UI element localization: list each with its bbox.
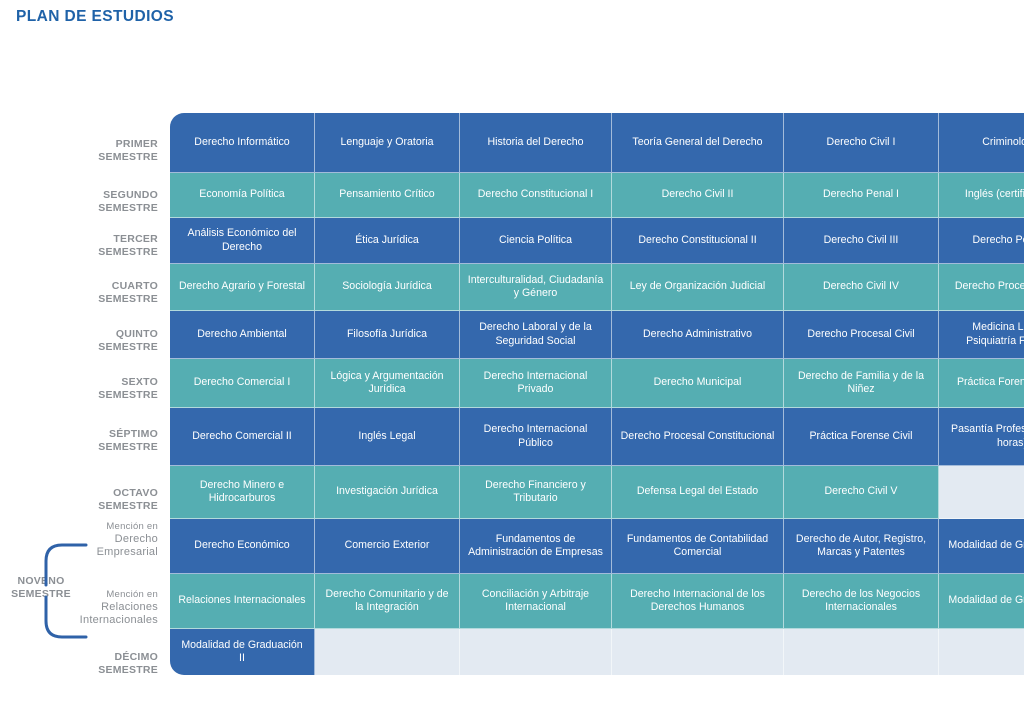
curriculum-table: Derecho InformáticoLenguaje y OratoriaHi… [170,113,1024,675]
course-cell[interactable]: Análisis Económico del Derecho [170,218,315,264]
course-cell[interactable]: Derecho Civil V [784,466,939,519]
course-cell[interactable]: Modalidad de Graduación I [939,519,1024,574]
table-row: Derecho Comercial ILógica y Argumentació… [170,359,1024,408]
course-cell[interactable]: Derecho Procesal Civil [784,311,939,359]
table-row: Análisis Económico del DerechoÉtica Jurí… [170,218,1024,264]
course-cell[interactable]: Economía Política [170,173,315,218]
course-cell[interactable]: Derecho Informático [170,113,315,173]
course-cell[interactable]: Derecho Comunitario y de la Integración [315,574,460,629]
course-cell[interactable]: Derecho de los Negocios Internacionales [784,574,939,629]
course-cell[interactable]: Derecho Internacional Privado [460,359,612,408]
table-row: Relaciones InternacionalesDerecho Comuni… [170,574,1024,629]
course-cell[interactable]: Modalidad de Graduación II [170,629,315,675]
semester-label-octavo: OCTAVOSEMESTRE [8,487,158,513]
course-cell[interactable]: Fundamentos de Administración de Empresa… [460,519,612,574]
course-cell[interactable]: Pensamiento Crítico [315,173,460,218]
course-cell[interactable]: Derecho Comercial I [170,359,315,408]
course-cell[interactable]: Relaciones Internacionales [170,574,315,629]
table-row: Modalidad de Graduación II [170,629,1024,675]
course-cell[interactable]: Derecho Laboral y de la Seguridad Social [460,311,612,359]
course-cell[interactable]: Sociología Jurídica [315,264,460,311]
course-cell[interactable]: Investigación Jurídica [315,466,460,519]
table-row: Derecho AmbientalFilosofía JurídicaDerec… [170,311,1024,359]
semester-label-tercer: TERCERSEMESTRE [8,233,158,259]
course-cell[interactable]: Ley de Organización Judicial [612,264,784,311]
course-cell[interactable]: Derecho Internacional de los Derechos Hu… [612,574,784,629]
course-cell[interactable]: Derecho Penal II [939,218,1024,264]
course-cell[interactable]: Ética Jurídica [315,218,460,264]
course-cell[interactable]: Práctica Forense Penal [939,359,1024,408]
table-row: Derecho EconómicoComercio ExteriorFundam… [170,519,1024,574]
table-row: Derecho Comercial IIInglés LegalDerecho … [170,408,1024,466]
course-cell[interactable]: Lógica y Argumentación Jurídica [315,359,460,408]
course-cell[interactable]: Derecho Procesal Penal [939,264,1024,311]
course-cell[interactable]: Pasantía Profesional (300 horas) [939,408,1024,466]
course-cell[interactable]: Derecho Agrario y Forestal [170,264,315,311]
course-cell[interactable]: Criminología [939,113,1024,173]
semester-label-septimo: SÉPTIMOSEMESTRE [8,428,158,454]
empty-cell [939,629,1024,675]
mencion-name-empresarial: DerechoEmpresarial [8,533,158,560]
course-cell[interactable]: Medicina Legal y Psiquiatría Forense [939,311,1024,359]
mencion-lead-empresarial: Mención en [8,521,158,533]
course-cell[interactable]: Derecho Financiero y Tributario [460,466,612,519]
semester-label-sexto: SEXTOSEMESTRE [8,376,158,402]
table-row: Economía PolíticaPensamiento CríticoDere… [170,173,1024,218]
course-cell[interactable]: Derecho Civil I [784,113,939,173]
mencion-empresarial-label: Mención en DerechoEmpresarial [8,521,158,559]
empty-cell [784,629,939,675]
course-cell[interactable]: Derecho Ambiental [170,311,315,359]
semester-label-cuarto: CUARTOSEMESTRE [8,280,158,306]
table-row: Derecho Minero e HidrocarburosInvestigac… [170,466,1024,519]
course-cell[interactable]: Modalidad de Graduación I [939,574,1024,629]
course-cell[interactable]: Derecho Municipal [612,359,784,408]
course-cell[interactable]: Fundamentos de Contabilidad Comercial [612,519,784,574]
empty-cell [460,629,612,675]
empty-cell [939,466,1024,519]
empty-cell [612,629,784,675]
semester-label-quinto: QUINTOSEMESTRE [8,328,158,354]
course-cell[interactable]: Derecho Penal I [784,173,939,218]
table-row: Derecho InformáticoLenguaje y OratoriaHi… [170,113,1024,173]
course-cell[interactable]: Conciliación y Arbitraje Internacional [460,574,612,629]
course-cell[interactable]: Teoría General del Derecho [612,113,784,173]
page-title: PLAN DE ESTUDIOS [16,8,174,26]
course-cell[interactable]: Derecho Constitucional II [612,218,784,264]
course-cell[interactable]: Derecho Civil IV [784,264,939,311]
course-cell[interactable]: Derecho Internacional Público [460,408,612,466]
course-cell[interactable]: Inglés (certificación) [939,173,1024,218]
course-cell[interactable]: Filosofía Jurídica [315,311,460,359]
curriculum-plan: PRIMERSEMESTRE SEGUNDOSEMESTRE TERCERSEM… [0,113,1024,693]
mencion-name-relaciones: RelacionesInternacionales [8,601,158,628]
course-cell[interactable]: Derecho Administrativo [612,311,784,359]
curriculum-table-body: Derecho InformáticoLenguaje y OratoriaHi… [170,113,1024,675]
course-cell[interactable]: Derecho de Familia y de la Niñez [784,359,939,408]
course-cell[interactable]: Lenguaje y Oratoria [315,113,460,173]
course-cell[interactable]: Ciencia Política [460,218,612,264]
empty-cell [315,629,460,675]
course-cell[interactable]: Defensa Legal del Estado [612,466,784,519]
mencion-lead-relaciones: Mención en [8,589,158,601]
course-cell[interactable]: Derecho Civil III [784,218,939,264]
course-cell[interactable]: Derecho de Autor, Registro, Marcas y Pat… [784,519,939,574]
course-cell[interactable]: Derecho Económico [170,519,315,574]
course-cell[interactable]: Derecho Procesal Constitucional [612,408,784,466]
course-cell[interactable]: Interculturalidad, Ciudadanía y Género [460,264,612,311]
semester-label-rail: PRIMERSEMESTRE SEGUNDOSEMESTRE TERCERSEM… [0,113,170,693]
noveno-semestre-group: NOVENOSEMESTRE Mención en DerechoEmpresa… [0,531,170,653]
semester-label-segundo: SEGUNDOSEMESTRE [8,189,158,215]
course-cell[interactable]: Historia del Derecho [460,113,612,173]
course-cell[interactable]: Derecho Comercial II [170,408,315,466]
course-cell[interactable]: Práctica Forense Civil [784,408,939,466]
course-cell[interactable]: Derecho Civil II [612,173,784,218]
semester-label-primer: PRIMERSEMESTRE [8,138,158,164]
course-cell[interactable]: Inglés Legal [315,408,460,466]
semester-label-decimo: DÉCIMOSEMESTRE [8,651,158,677]
course-cell[interactable]: Derecho Constitucional I [460,173,612,218]
mencion-relaciones-label: Mención en RelacionesInternacionales [8,589,158,627]
table-row: Derecho Agrario y ForestalSociología Jur… [170,264,1024,311]
course-cell[interactable]: Comercio Exterior [315,519,460,574]
course-cell[interactable]: Derecho Minero e Hidrocarburos [170,466,315,519]
